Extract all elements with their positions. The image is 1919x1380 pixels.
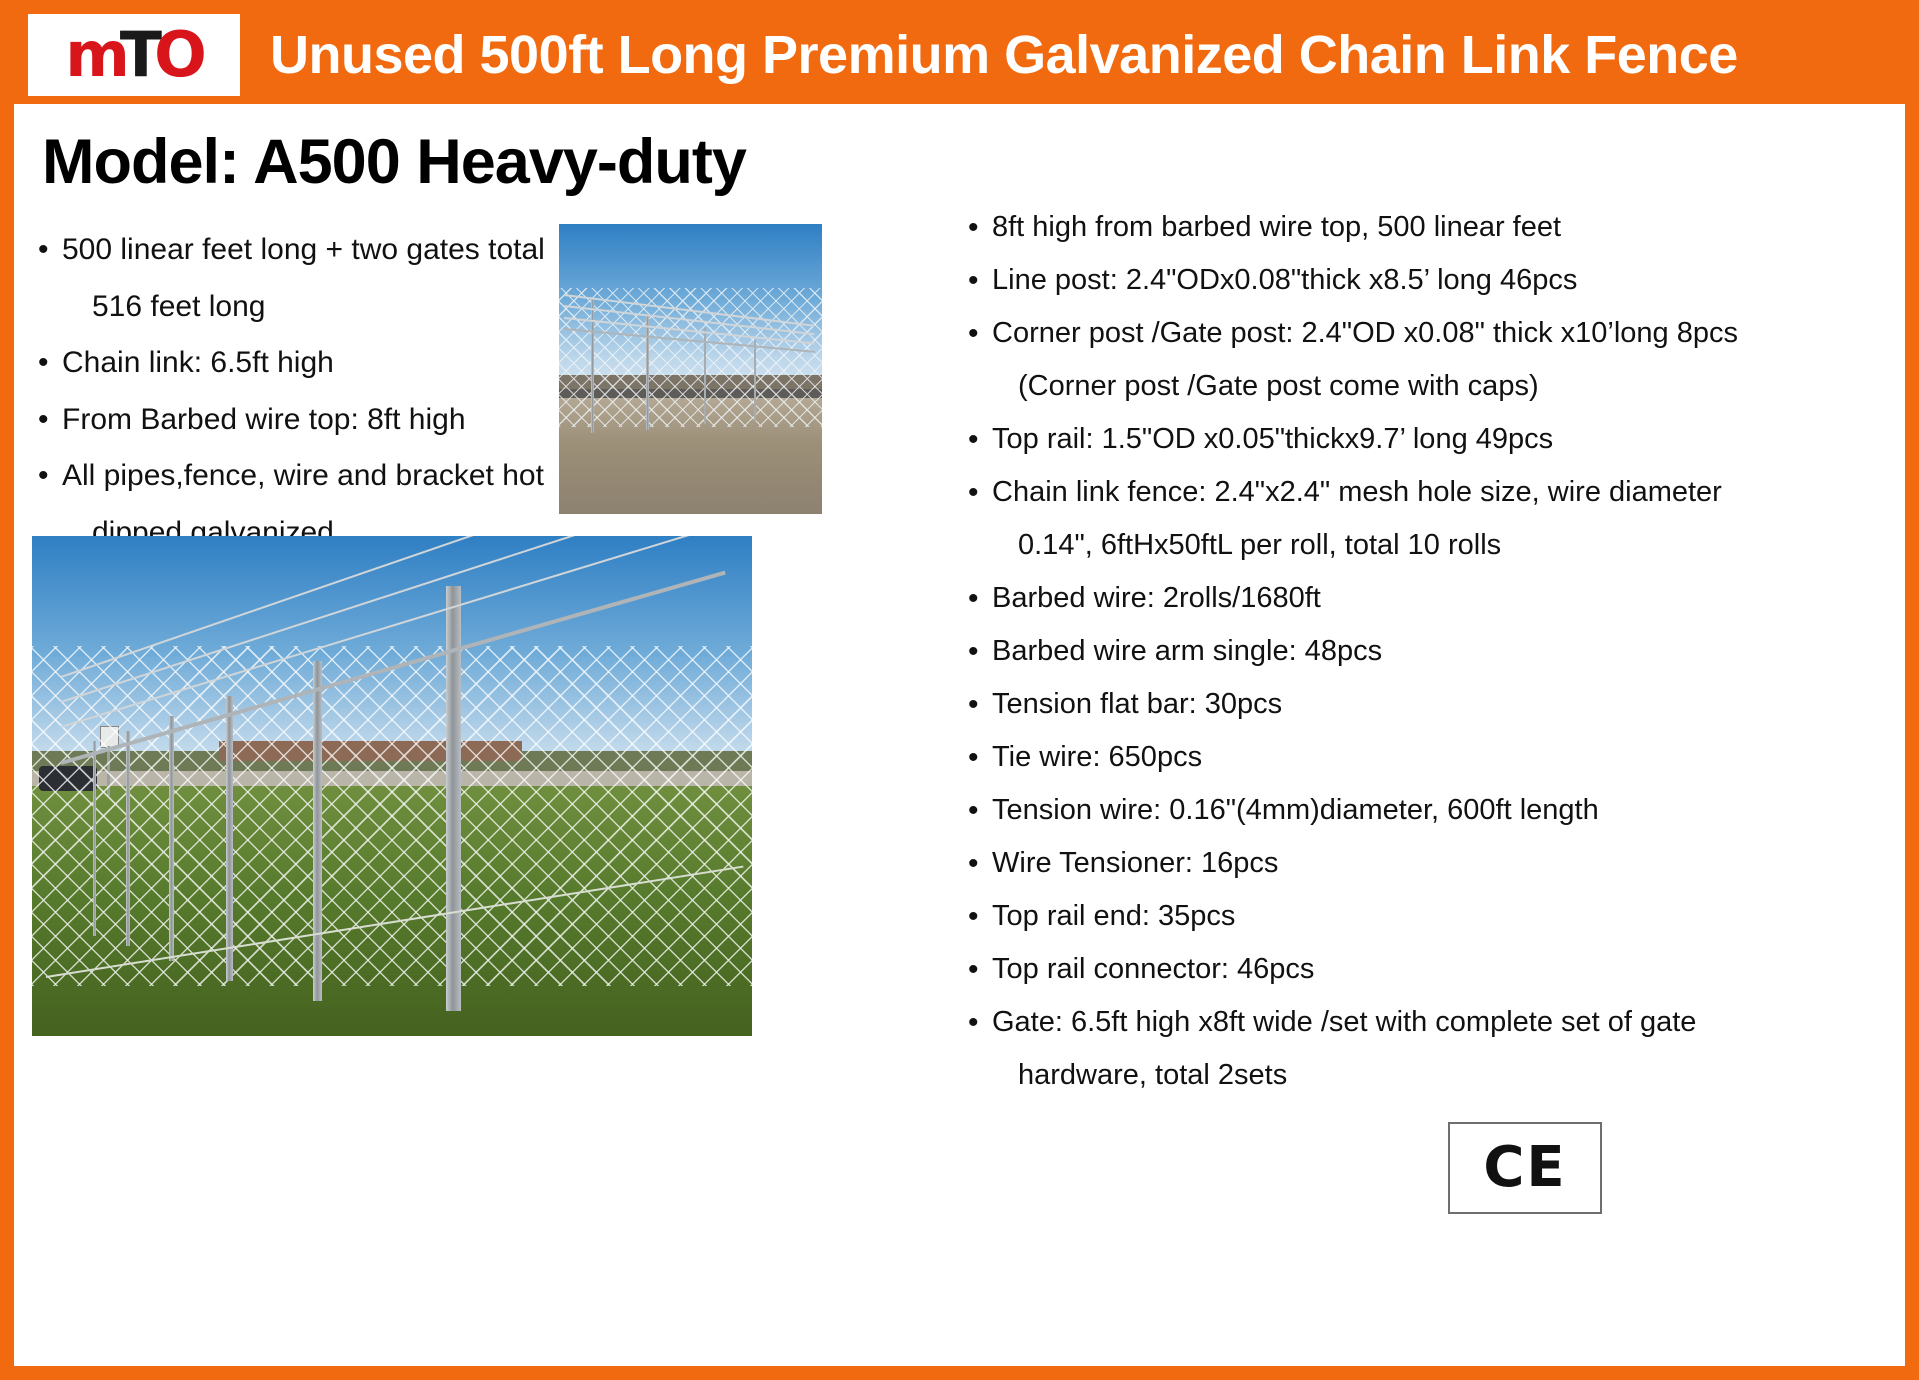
right-spec-item: •Top rail end: 35pcs <box>966 893 1896 940</box>
ce-mark-text: CE <box>1483 1140 1566 1196</box>
bullet-icon: • <box>38 396 49 445</box>
bullet-icon: • <box>968 628 979 677</box>
right-spec-text: hardware, total 2sets <box>1018 1059 1287 1091</box>
right-spec-item: (Corner post /Gate post come with caps) <box>966 363 1896 410</box>
right-spec-text: Barbed wire: 2rolls/1680ft <box>992 582 1321 614</box>
left-spec-text: 516 feet long <box>92 290 265 323</box>
right-spec-text: Corner post /Gate post: 2.4"OD x0.08" th… <box>992 317 1738 349</box>
bullet-icon: • <box>968 204 979 253</box>
left-spec-text: 500 linear feet long + two gates total <box>62 233 545 266</box>
bullet-icon: • <box>968 946 979 995</box>
bullet-icon: • <box>968 893 979 942</box>
right-spec-item: •Top rail: 1.5"OD x0.05"thickx9.7’ long … <box>966 416 1896 463</box>
right-spec-item: •Top rail connector: 46pcs <box>966 946 1896 993</box>
logo-letter-m: m <box>65 18 126 91</box>
ce-certification-mark: CE <box>1448 1122 1602 1214</box>
header-bar: mTO Unused 500ft Long Premium Galvanized… <box>0 0 1919 110</box>
content-panel: Model: A500 Heavy-duty •500 linear feet … <box>14 104 1905 1366</box>
right-spec-text: Line post: 2.4"ODx0.08"thick x8.5’ long … <box>992 264 1577 296</box>
right-spec-text: (Corner post /Gate post come with caps) <box>1018 370 1539 402</box>
model-title: Model: A500 Heavy-duty <box>42 126 746 198</box>
bullet-icon: • <box>968 840 979 889</box>
right-spec-text: Top rail end: 35pcs <box>992 900 1235 932</box>
left-spec-text: All pipes,fence, wire and bracket hot <box>62 459 544 492</box>
fence-photo-grass-field <box>32 536 752 1036</box>
right-spec-item: •Tie wire: 650pcs <box>966 734 1896 781</box>
right-spec-item: •Tension wire: 0.16"(4mm)diameter, 600ft… <box>966 787 1896 834</box>
bullet-icon: • <box>38 452 49 501</box>
bullet-icon: • <box>968 257 979 306</box>
company-logo: mTO <box>28 14 240 96</box>
header-title: Unused 500ft Long Premium Galvanized Cha… <box>270 24 1738 86</box>
right-spec-item: •8ft high from barbed wire top, 500 line… <box>966 204 1896 251</box>
right-spec-item: 0.14", 6ftHx50ftL per roll, total 10 rol… <box>966 522 1896 569</box>
right-spec-list: •8ft high from barbed wire top, 500 line… <box>966 204 1896 1098</box>
right-spec-text: Tension flat bar: 30pcs <box>992 688 1282 720</box>
right-spec-text: Gate: 6.5ft high x8ft wide /set with com… <box>992 1006 1696 1038</box>
right-spec-text: Barbed wire arm single: 48pcs <box>992 635 1382 667</box>
product-spec-poster: mTO Unused 500ft Long Premium Galvanized… <box>0 0 1919 1380</box>
fence-photo-gravel-lot <box>559 224 822 514</box>
right-spec-item: •Corner post /Gate post: 2.4"OD x0.08" t… <box>966 310 1896 357</box>
bullet-icon: • <box>968 469 979 518</box>
right-spec-text: 8ft high from barbed wire top, 500 linea… <box>992 211 1561 243</box>
logo-wordmark: mTO <box>65 24 203 86</box>
right-spec-text: 0.14", 6ftHx50ftL per roll, total 10 rol… <box>1018 529 1501 561</box>
right-spec-text: Wire Tensioner: 16pcs <box>992 847 1278 879</box>
left-spec-text: Chain link: 6.5ft high <box>62 346 334 379</box>
right-spec-text: Top rail: 1.5"OD x0.05"thickx9.7’ long 4… <box>992 423 1553 455</box>
right-spec-item: •Barbed wire: 2rolls/1680ft <box>966 575 1896 622</box>
right-spec-item: •Barbed wire arm single: 48pcs <box>966 628 1896 675</box>
bullet-icon: • <box>968 575 979 624</box>
bullet-icon: • <box>38 226 49 275</box>
bullet-icon: • <box>38 339 49 388</box>
bullet-icon: • <box>968 999 979 1048</box>
right-spec-item: •Wire Tensioner: 16pcs <box>966 840 1896 887</box>
logo-letter-o: O <box>154 18 203 91</box>
right-spec-item: •Chain link fence: 2.4"x2.4" mesh hole s… <box>966 469 1896 516</box>
right-spec-text: Chain link fence: 2.4"x2.4" mesh hole si… <box>992 476 1722 508</box>
bullet-icon: • <box>968 310 979 359</box>
right-spec-column: •8ft high from barbed wire top, 500 line… <box>966 204 1896 1104</box>
logo-letter-t: T <box>120 18 158 91</box>
right-spec-item: •Tension flat bar: 30pcs <box>966 681 1896 728</box>
right-spec-item: hardware, total 2sets <box>966 1052 1896 1099</box>
right-spec-item: •Line post: 2.4"ODx0.08"thick x8.5’ long… <box>966 257 1896 304</box>
right-spec-item: •Gate: 6.5ft high x8ft wide /set with co… <box>966 999 1896 1046</box>
right-spec-text: Top rail connector: 46pcs <box>992 953 1314 985</box>
left-spec-text: From Barbed wire top: 8ft high <box>62 403 466 436</box>
bullet-icon: • <box>968 734 979 783</box>
bullet-icon: • <box>968 787 979 836</box>
bullet-icon: • <box>968 416 979 465</box>
right-spec-text: Tension wire: 0.16"(4mm)diameter, 600ft … <box>992 794 1599 826</box>
right-spec-text: Tie wire: 650pcs <box>992 741 1202 773</box>
bullet-icon: • <box>968 681 979 730</box>
